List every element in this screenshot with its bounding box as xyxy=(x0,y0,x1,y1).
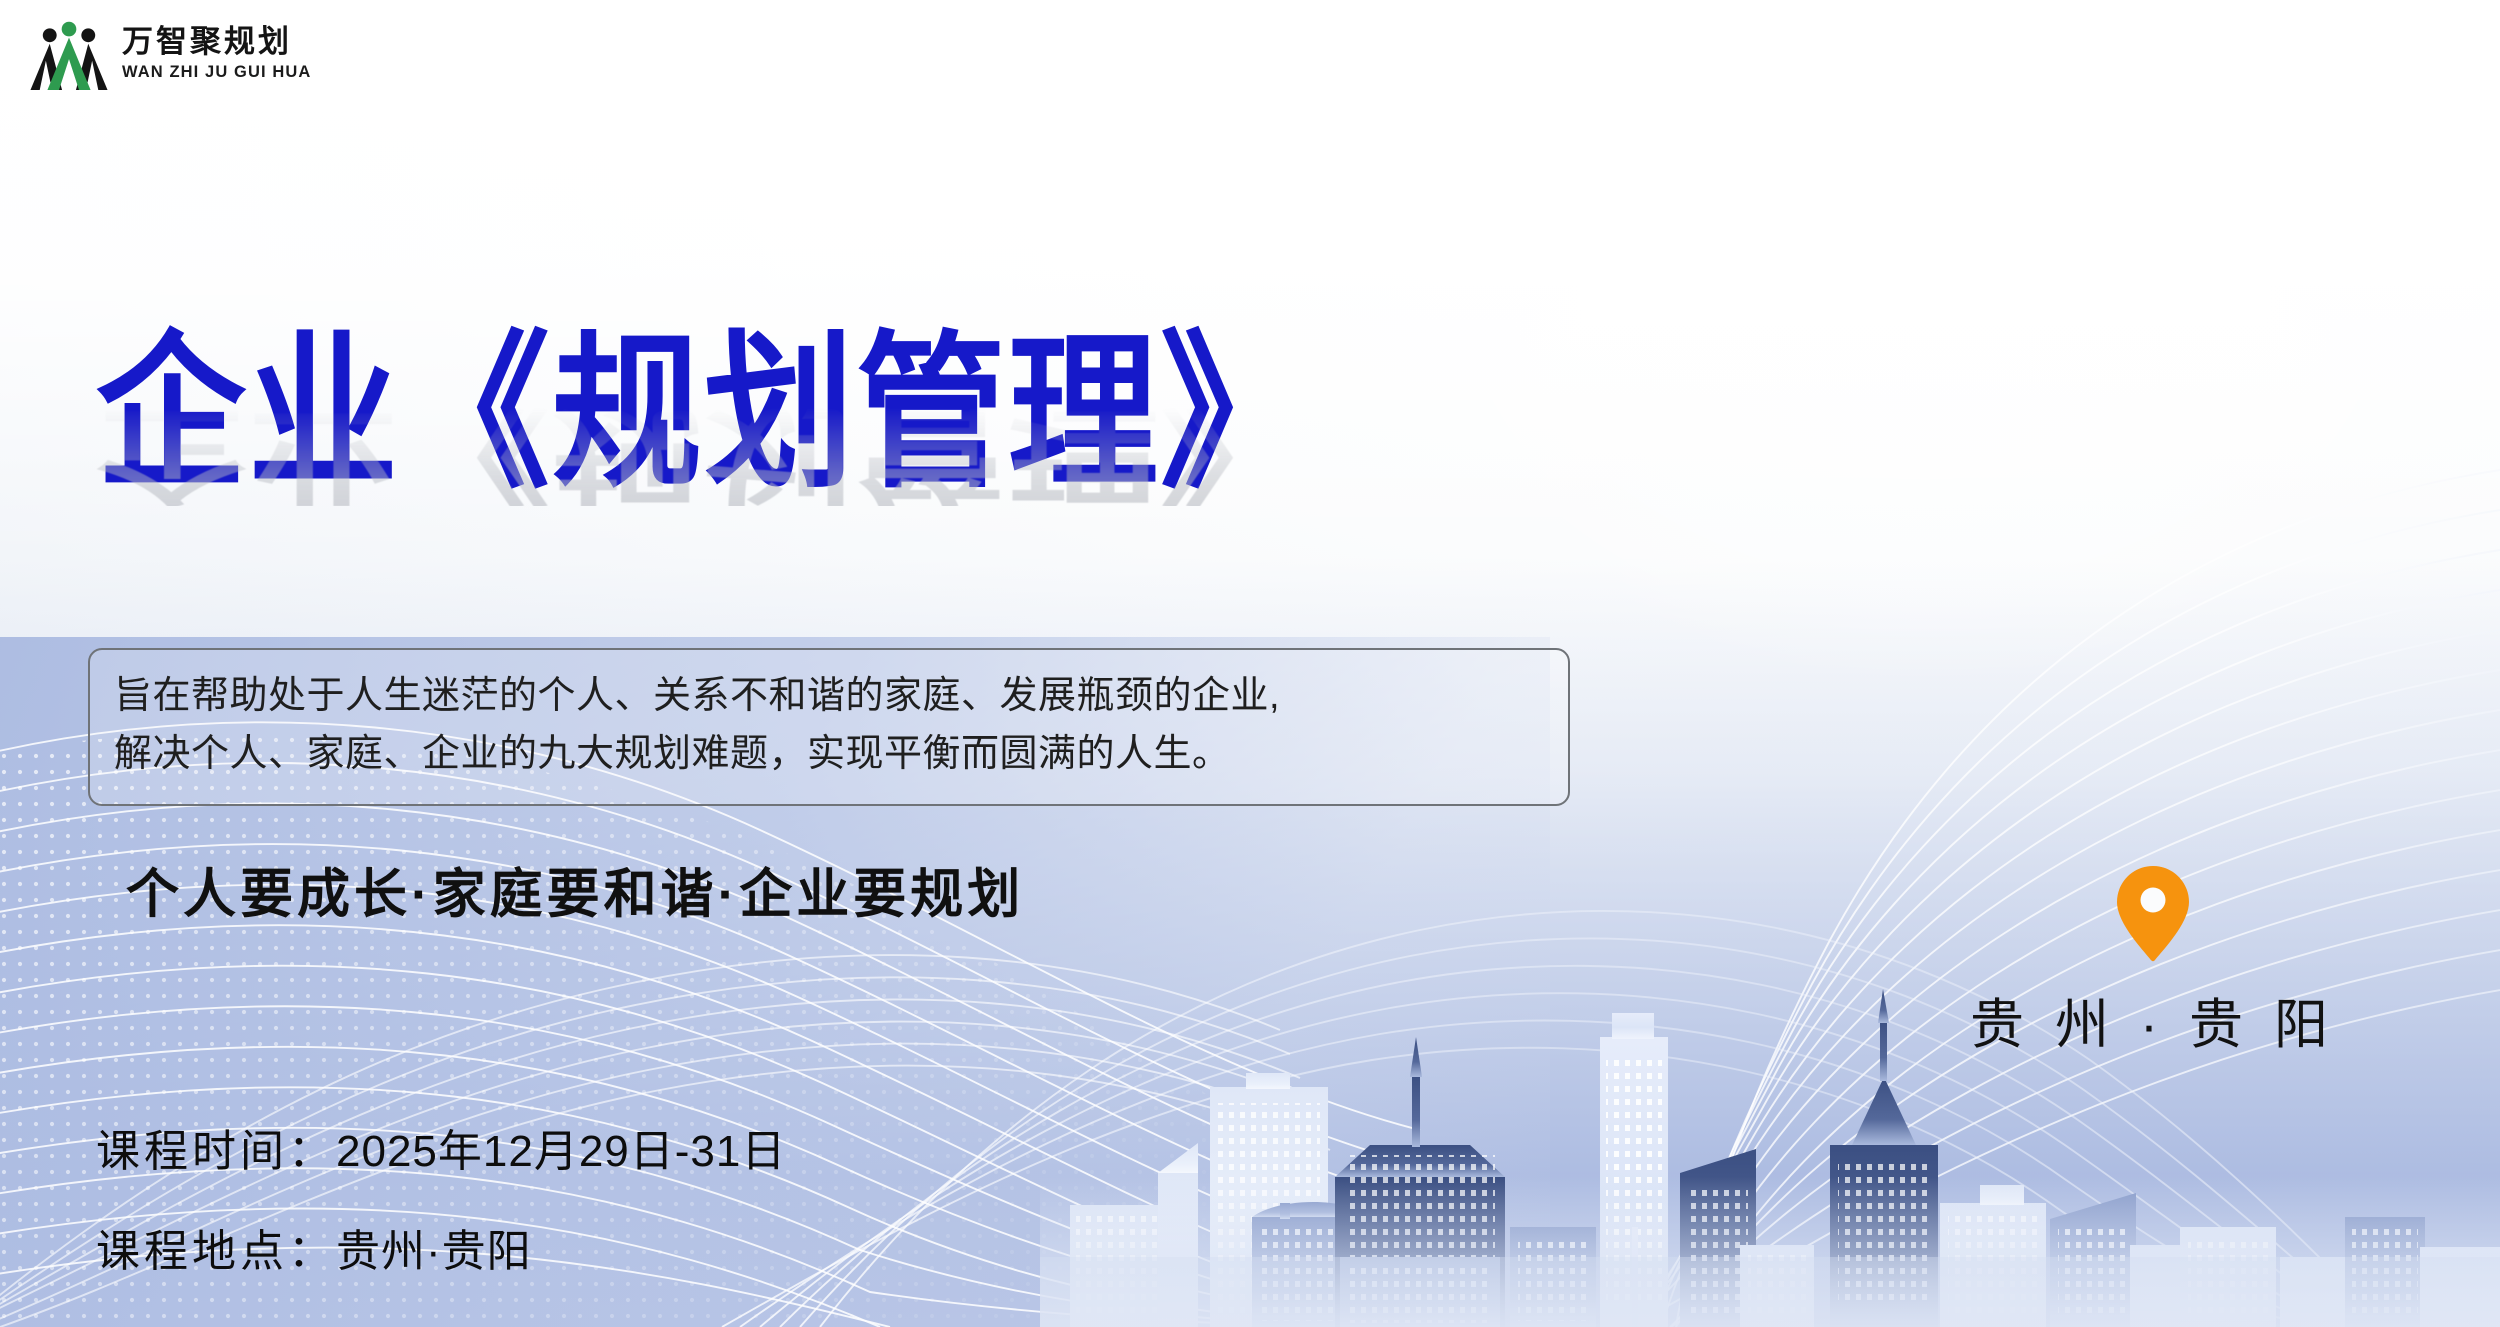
poster-canvas: 万智聚规划 WAN ZHI JU GUI HUA 企业《规划管理》 企业《规划管… xyxy=(0,0,2500,1327)
slogan-text: 个人要成长·家庭要和谐·企业要规划 xyxy=(126,852,1024,928)
hero-title-block: 企业《规划管理》 企业《规划管理》 xyxy=(96,330,1312,480)
brand-logo[interactable]: 万智聚规划 WAN ZHI JU GUI HUA xyxy=(30,16,311,90)
course-place-row: 课程地点：贵州·贵阳 xyxy=(96,1215,786,1279)
description-line-2: 解决个人、家庭、企业的九大规划难题，实现平衡而圆满的人生。 xyxy=(114,726,1546,784)
brand-logo-text: 万智聚规划 WAN ZHI JU GUI HUA xyxy=(122,26,311,81)
course-time-label: 课程时间： xyxy=(96,1127,336,1176)
location-label: 贵 州 · 贵 阳 xyxy=(1958,980,2348,1059)
course-time-value: 2025年12月29日-31日 xyxy=(336,1127,786,1176)
course-time-row: 课程时间：2025年12月29日-31日 xyxy=(96,1115,786,1179)
location-badge: 贵 州 · 贵 阳 xyxy=(1958,866,2348,1059)
brand-name-en: WAN ZHI JU GUI HUA xyxy=(122,64,311,81)
page-title-reflection: 企业《规划管理》 xyxy=(96,401,1312,506)
course-info-block: 课程时间：2025年12月29日-31日 课程地点：贵州·贵阳 xyxy=(96,1115,786,1279)
course-place-label: 课程地点： xyxy=(96,1227,336,1276)
description-box: 旨在帮助处于人生迷茫的个人、关系不和谐的家庭、发展瓶颈的企业, 解决个人、家庭、… xyxy=(88,648,1570,806)
course-place-value: 贵州·贵阳 xyxy=(336,1227,532,1276)
brand-name-cn: 万智聚规划 xyxy=(122,26,311,57)
map-pin-icon xyxy=(2117,866,2189,962)
description-line-1: 旨在帮助处于人生迷茫的个人、关系不和谐的家庭、发展瓶颈的企业, xyxy=(114,668,1546,726)
three-figures-logo-icon xyxy=(30,16,108,90)
